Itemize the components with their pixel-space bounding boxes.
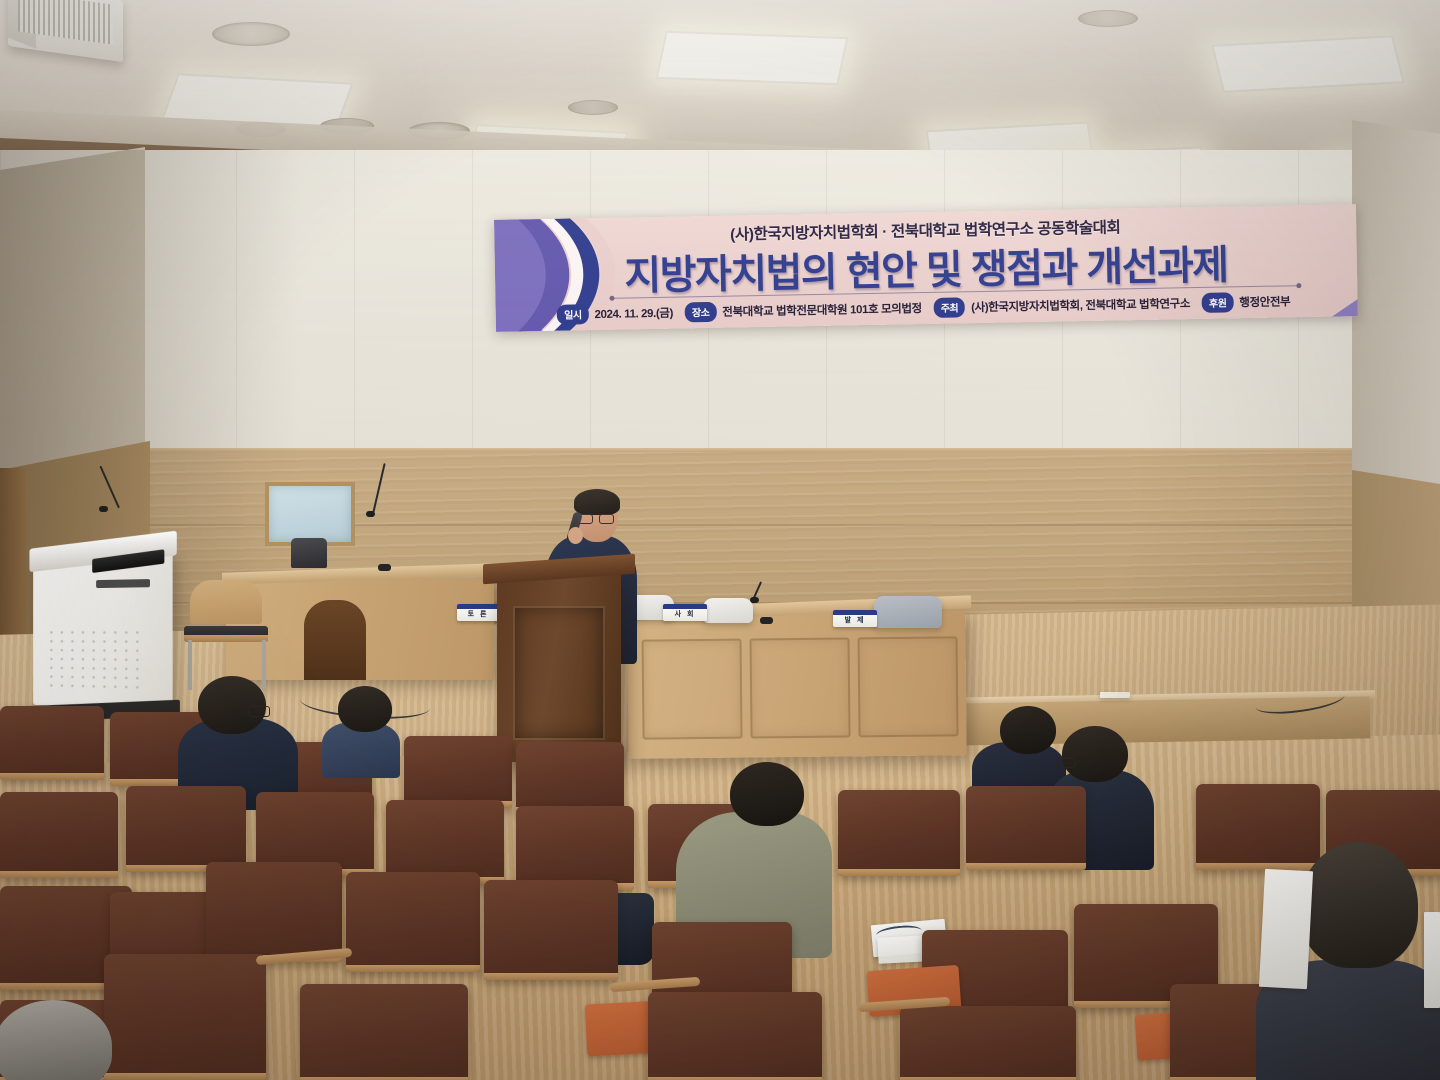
mic-base — [760, 617, 773, 624]
speaker-hair — [574, 489, 620, 515]
auditorium-seat — [966, 786, 1086, 870]
podium-front-panel — [513, 606, 605, 740]
head-table — [627, 610, 966, 759]
attendee-head — [1300, 842, 1418, 968]
auditorium-seat — [126, 786, 246, 872]
head-table-panel — [858, 636, 959, 737]
auditorium-seat — [0, 706, 104, 780]
glasses-icon — [578, 514, 614, 522]
mic-head — [99, 506, 108, 512]
auditorium-seat — [1196, 784, 1320, 870]
auditorium-seat — [484, 880, 618, 980]
auditorium-seat — [516, 806, 634, 890]
head-table-panel — [642, 639, 743, 740]
attendee-head — [198, 676, 266, 734]
auditorium-seat — [404, 736, 512, 808]
speaker-hand — [568, 527, 583, 544]
speaker-podium — [497, 572, 621, 762]
attendee-papers — [1259, 869, 1313, 989]
paper-on-stage — [1100, 692, 1130, 698]
banner-pill-venue: 장소 — [685, 302, 717, 323]
auditorium-seat — [300, 984, 468, 1080]
auditorium-seat — [104, 954, 266, 1080]
conference-banner: (사)한국지방자치법학회 · 전북대학교 법학연구소 공동학술대회 지방자치법의… — [494, 204, 1358, 332]
lens-right — [599, 514, 614, 524]
banner-pill-host: 주최 — [934, 297, 966, 318]
attendee-head — [1062, 726, 1128, 782]
placard-label: 토 론 — [468, 609, 489, 620]
auditorium-seat — [838, 790, 960, 876]
attendee-head — [730, 762, 804, 826]
placard-label: 발 제 — [845, 615, 866, 626]
mic-head — [750, 597, 759, 603]
banner-value-date: 2024. 11. 29.(금) — [594, 305, 673, 322]
bench-arch-panel — [304, 600, 366, 680]
chair-leg — [188, 640, 192, 690]
conference-hall-photo: (사)한국지방자치법학회 · 전북대학교 법학연구소 공동학술대회 지방자치법의… — [0, 0, 1440, 1080]
chair-back — [190, 580, 262, 624]
placard-moderator: 사 회 — [663, 604, 707, 621]
auditorium-seat — [516, 742, 624, 814]
head-table-panel — [750, 637, 851, 738]
glasses-icon — [248, 706, 270, 717]
glasses-icon — [1056, 758, 1076, 768]
auditorium-seat — [900, 1006, 1076, 1080]
placard-label: 사 회 — [675, 609, 696, 620]
placard-presenter: 발 제 — [833, 610, 877, 627]
witness-chair — [291, 538, 327, 568]
mic-base — [378, 564, 391, 571]
chair-leg — [262, 640, 266, 690]
placard-discussant: 토 론 — [457, 604, 499, 621]
witness-box-window — [265, 482, 355, 546]
auditorium-seat — [648, 992, 822, 1080]
banner-pill-sponsor: 후원 — [1202, 292, 1234, 313]
banner-value-sponsor: 행정안전부 — [1239, 293, 1290, 310]
attendee-head — [338, 686, 392, 732]
banner-corner-accent — [1332, 299, 1358, 316]
auditorium-seat — [346, 872, 480, 972]
auditorium-seat — [0, 792, 118, 878]
panel-chair — [703, 598, 753, 623]
av-control-lectern — [33, 550, 172, 709]
lectern-keypad — [46, 628, 140, 695]
chair-seat — [184, 626, 268, 642]
attendee-head — [1000, 706, 1056, 754]
lectern-button-strip — [96, 579, 150, 588]
auditorium-seat — [206, 862, 342, 962]
attendee-papers — [1424, 912, 1440, 1008]
banner-value-host: (사)한국지방자치법학회, 전북대학교 법학연구소 — [971, 295, 1190, 315]
banner-pill-date: 일시 — [557, 304, 589, 325]
mic-head — [366, 511, 375, 517]
panel-chair — [874, 596, 942, 628]
stage-side-chair — [180, 580, 272, 690]
banner-value-venue: 전북대학교 법학전문대학원 101호 모의법정 — [722, 300, 922, 320]
